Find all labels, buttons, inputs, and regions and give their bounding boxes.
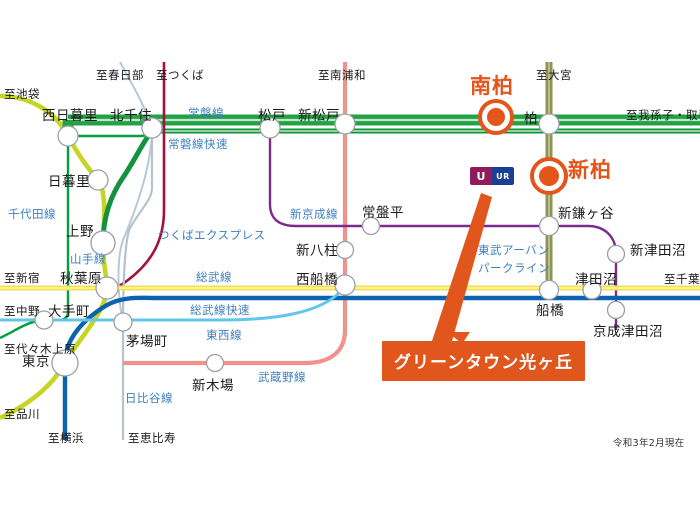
- line-tsukuba-express: [107, 62, 164, 288]
- station-marker-kayabacho: [114, 313, 132, 331]
- route-map: 常磐線 常磐線快速 つくばエクスプレス 新京成線 千代田線 山手線 総武線 総武…: [0, 0, 700, 525]
- terminal-label-abiko-toride: 至我孫子・取手: [626, 110, 700, 122]
- property-callout-label: グリーンタウン光ヶ丘: [382, 341, 585, 381]
- highlight-label-minamikashiwa: 南柏: [470, 76, 514, 97]
- as-of-note: 令和3年2月現在: [613, 435, 685, 449]
- station-label-nishifunabashi: 西船橋: [296, 274, 338, 288]
- station-marker-keiseitsudanuma: [608, 302, 625, 319]
- line-label-joban-rapid: 常磐線快速: [168, 139, 228, 151]
- highlight-marker-shinkashiwa-core: [539, 166, 559, 186]
- station-marker-nishifunabashi: [335, 275, 355, 295]
- line-label-hibiya: 日比谷線: [125, 393, 173, 405]
- line-label-tobu-urban-park-1: 東武アーバン: [478, 245, 550, 257]
- station-label-shinhachihashira: 新八柱: [296, 245, 338, 259]
- line-label-musashino: 武蔵野線: [258, 372, 306, 384]
- terminal-label-minamiurawa: 至南浦和: [318, 70, 366, 82]
- line-label-joban: 常磐線: [188, 108, 224, 120]
- terminal-label-kasukabe: 至春日部: [96, 70, 144, 82]
- station-label-kitasenju: 北千住: [110, 110, 152, 124]
- terminal-label-ikebukuro: 至池袋: [4, 89, 40, 101]
- station-marker-shintsudanuma: [608, 246, 625, 263]
- line-label-tobu-urban-park-2: パークライン: [478, 263, 550, 275]
- station-marker-kashiwa: [539, 114, 559, 134]
- terminal-label-shinjuku: 至新宿: [4, 273, 40, 285]
- station-label-shinkamagaya: 新鎌ヶ谷: [558, 208, 614, 222]
- station-marker-shinkamagaya: [540, 217, 559, 236]
- station-label-otemachi: 大手町: [48, 306, 90, 320]
- station-label-kashiwa: 柏: [524, 113, 538, 127]
- ur-logo-badge: U UR: [470, 167, 514, 185]
- station-marker-funabashi: [540, 281, 559, 300]
- line-label-yamanote: 山手線: [70, 254, 106, 266]
- terminal-label-yoyogiuehara: 至代々木上原: [4, 344, 76, 356]
- station-label-nippori: 日暮里: [48, 176, 90, 190]
- line-chiyoda: [68, 128, 152, 136]
- station-label-nishinippori: 西日暮里: [42, 110, 98, 124]
- station-marker-nippori: [88, 170, 108, 190]
- terminal-label-omiya: 至大宮: [536, 70, 572, 82]
- highlight-label-shinkashiwa: 新柏: [568, 160, 612, 181]
- terminal-label-yokohama: 至横浜: [48, 433, 84, 445]
- station-label-akihabara: 秋葉原: [60, 273, 102, 287]
- line-label-tozai: 東西線: [206, 330, 242, 342]
- station-marker-shinkiba: [207, 355, 224, 372]
- station-label-tsudanuma: 津田沼: [575, 274, 617, 288]
- station-marker-shinhachihashira: [337, 242, 354, 259]
- terminal-label-nakano: 至中野: [4, 306, 40, 318]
- ur-text: UR: [492, 167, 514, 185]
- ur-u-glyph-icon: U: [470, 167, 492, 185]
- line-label-sobu-rapid: 総武線快速: [190, 305, 250, 317]
- station-label-shintsudanuma: 新津田沼: [630, 245, 686, 259]
- station-label-shinkiba: 新木場: [192, 380, 234, 394]
- terminal-label-chiba: 至千葉: [664, 274, 700, 286]
- station-label-tokyo: 東京: [22, 356, 50, 370]
- terminal-label-shinagawa: 至品川: [4, 409, 40, 421]
- line-joban-rapid: [103, 131, 152, 243]
- station-marker-nishinippori: [58, 126, 78, 146]
- station-label-shinmatsudo: 新松戸: [298, 110, 340, 124]
- line-label-shinkeisei: 新京成線: [290, 209, 338, 221]
- station-label-tokiwadaira: 常盤平: [362, 207, 404, 221]
- highlight-marker-minamikashiwa-core: [487, 108, 505, 126]
- line-label-sobu: 総武線: [196, 272, 232, 284]
- terminal-label-ebisu: 至恵比寿: [128, 433, 176, 445]
- station-label-funabashi: 船橋: [536, 305, 564, 319]
- terminal-label-tsukuba: 至つくば: [156, 70, 204, 82]
- station-label-keiseitsudanuma: 京成津田沼: [593, 326, 663, 340]
- station-label-ueno: 上野: [66, 226, 94, 240]
- station-label-kayabacho: 茅場町: [126, 336, 168, 350]
- line-label-tsukuba-express: つくばエクスプレス: [158, 230, 266, 242]
- line-label-chiyoda: 千代田線: [8, 209, 56, 221]
- station-label-matsudo: 松戸: [258, 110, 286, 124]
